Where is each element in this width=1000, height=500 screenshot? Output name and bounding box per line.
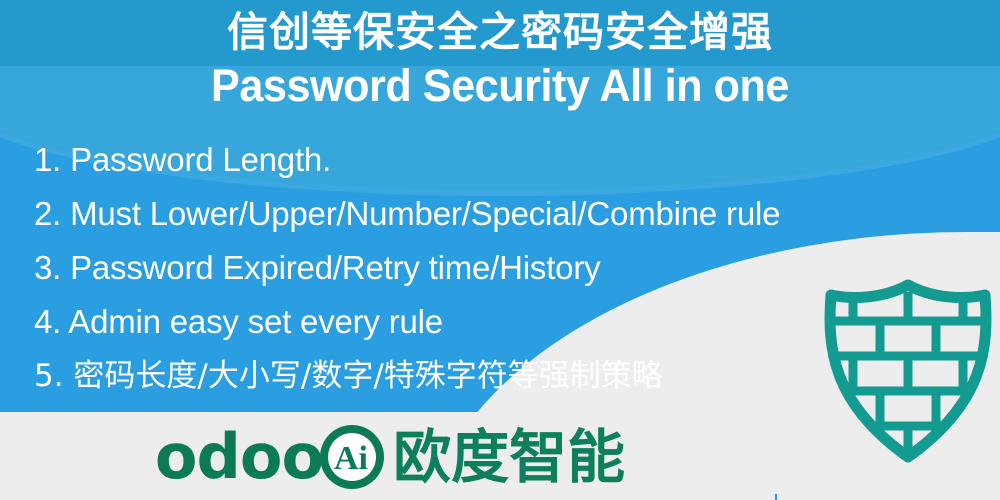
banner-header: 信创等保安全之密码安全增强 Password Security All in o…: [0, 6, 1000, 114]
list-item: 2. Must Lower/Upper/Number/Special/Combi…: [34, 187, 994, 241]
list-item: 4. Admin easy set every rule: [34, 295, 994, 349]
feature-list: 1. Password Length. 2. Must Lower/Upper/…: [34, 133, 994, 403]
page-title-english: Password Security All in one: [20, 58, 980, 114]
ai-circle-badge-icon: Ai: [317, 422, 387, 492]
brand-odoo-wordmark: odoo: [155, 426, 323, 488]
list-item: 1. Password Length.: [34, 133, 994, 187]
stray-pixel-artifact: [775, 494, 777, 500]
page-title-chinese: 信创等保安全之密码安全增强: [0, 6, 1000, 58]
list-item: 5. 密码长度/大小写/数字/特殊字符等强制策略: [34, 349, 994, 403]
svg-text:Ai: Ai: [334, 440, 368, 477]
brand-logo: odoo Ai 欧度智能: [0, 413, 1000, 500]
promo-banner: 信创等保安全之密码安全增强 Password Security All in o…: [0, 0, 1000, 500]
brand-chinese-name: 欧度智能: [393, 426, 625, 488]
list-item: 3. Password Expired/Retry time/History: [34, 241, 994, 295]
